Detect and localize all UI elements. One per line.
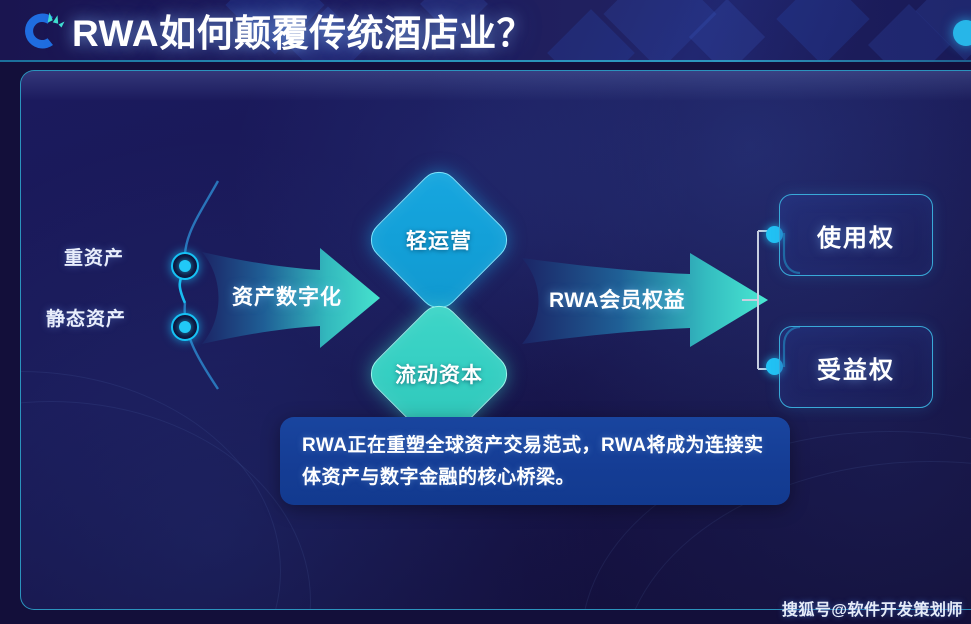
arrow-label-asset-digitization: 资产数字化 bbox=[232, 281, 342, 311]
header-bar: RWA如何颠覆传统酒店业？ bbox=[0, 0, 971, 62]
diamond-label-light-operations: 轻运营 bbox=[406, 225, 472, 255]
panel-sheen-decoration bbox=[21, 71, 971, 101]
background-swoosh-decoration bbox=[20, 401, 311, 610]
node-dot-icon bbox=[171, 252, 199, 280]
header-divider bbox=[0, 60, 971, 62]
watermark-label: 搜狐号@软件开发策划师 bbox=[782, 596, 963, 620]
diamond-label-liquid-capital: 流动资本 bbox=[395, 359, 483, 389]
arrow-label-rwa-member-benefits: RWA会员权益 bbox=[549, 284, 685, 314]
output-box-usage-rights[interactable]: 使用权 bbox=[779, 194, 933, 276]
summary-callout-text: RWA正在重塑全球资产交易范式，RWA将成为连接实体资产与数字金融的核心桥梁。 bbox=[302, 430, 768, 494]
summary-callout-box: RWA正在重塑全球资产交易范式，RWA将成为连接实体资产与数字金融的核心桥梁。 bbox=[280, 417, 790, 505]
output-label-beneficiary-rights: 受益权 bbox=[817, 350, 895, 385]
output-box-beneficiary-rights[interactable]: 受益权 bbox=[779, 326, 933, 408]
input-label-static-asset: 静态资产 bbox=[46, 304, 126, 331]
node-dot-icon bbox=[171, 313, 199, 341]
input-label-heavy-asset: 重资产 bbox=[64, 243, 124, 270]
page-title: RWA如何颠覆传统酒店业？ bbox=[72, 2, 534, 58]
header-diamond-decoration bbox=[776, 0, 869, 62]
output-label-usage-rights: 使用权 bbox=[817, 218, 895, 253]
pie-chart-c-logo-icon bbox=[16, 6, 68, 56]
